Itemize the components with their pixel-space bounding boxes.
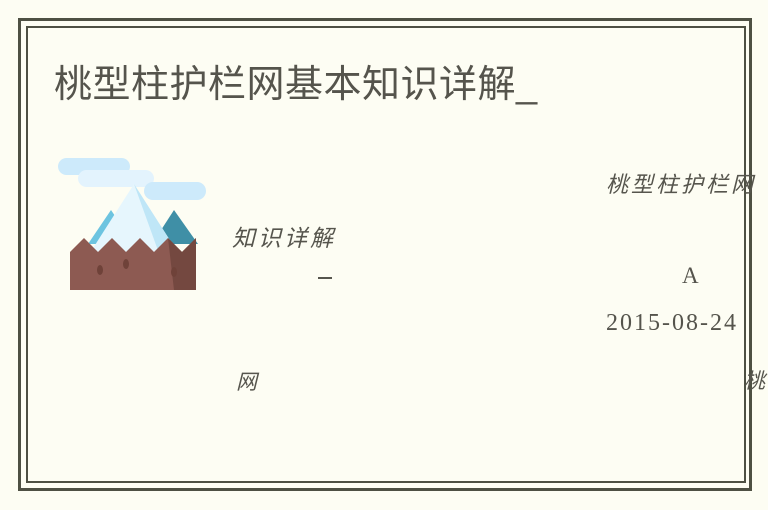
fragment-right-text: 桃型柱护栏网 bbox=[606, 167, 756, 199]
page-canvas: 桃型柱护栏网基本知识详解_ 知识详解 网 桃型柱护栏网 桃 A 2015-08-… bbox=[0, 0, 768, 510]
page-title: 桃型柱护栏网基本知识详解_ bbox=[54, 60, 538, 110]
broken-image-mountain-placeholder-icon bbox=[56, 148, 212, 298]
meta-date: 2015-08-24 bbox=[606, 310, 738, 337]
fragment-corner-char: 桃 bbox=[744, 365, 765, 395]
fragment-dash bbox=[318, 277, 332, 279]
meta-letter: A bbox=[682, 263, 699, 289]
fragment-mid-text: 知识详解 bbox=[232, 219, 336, 253]
fragment-net-char: 网 bbox=[236, 366, 257, 396]
